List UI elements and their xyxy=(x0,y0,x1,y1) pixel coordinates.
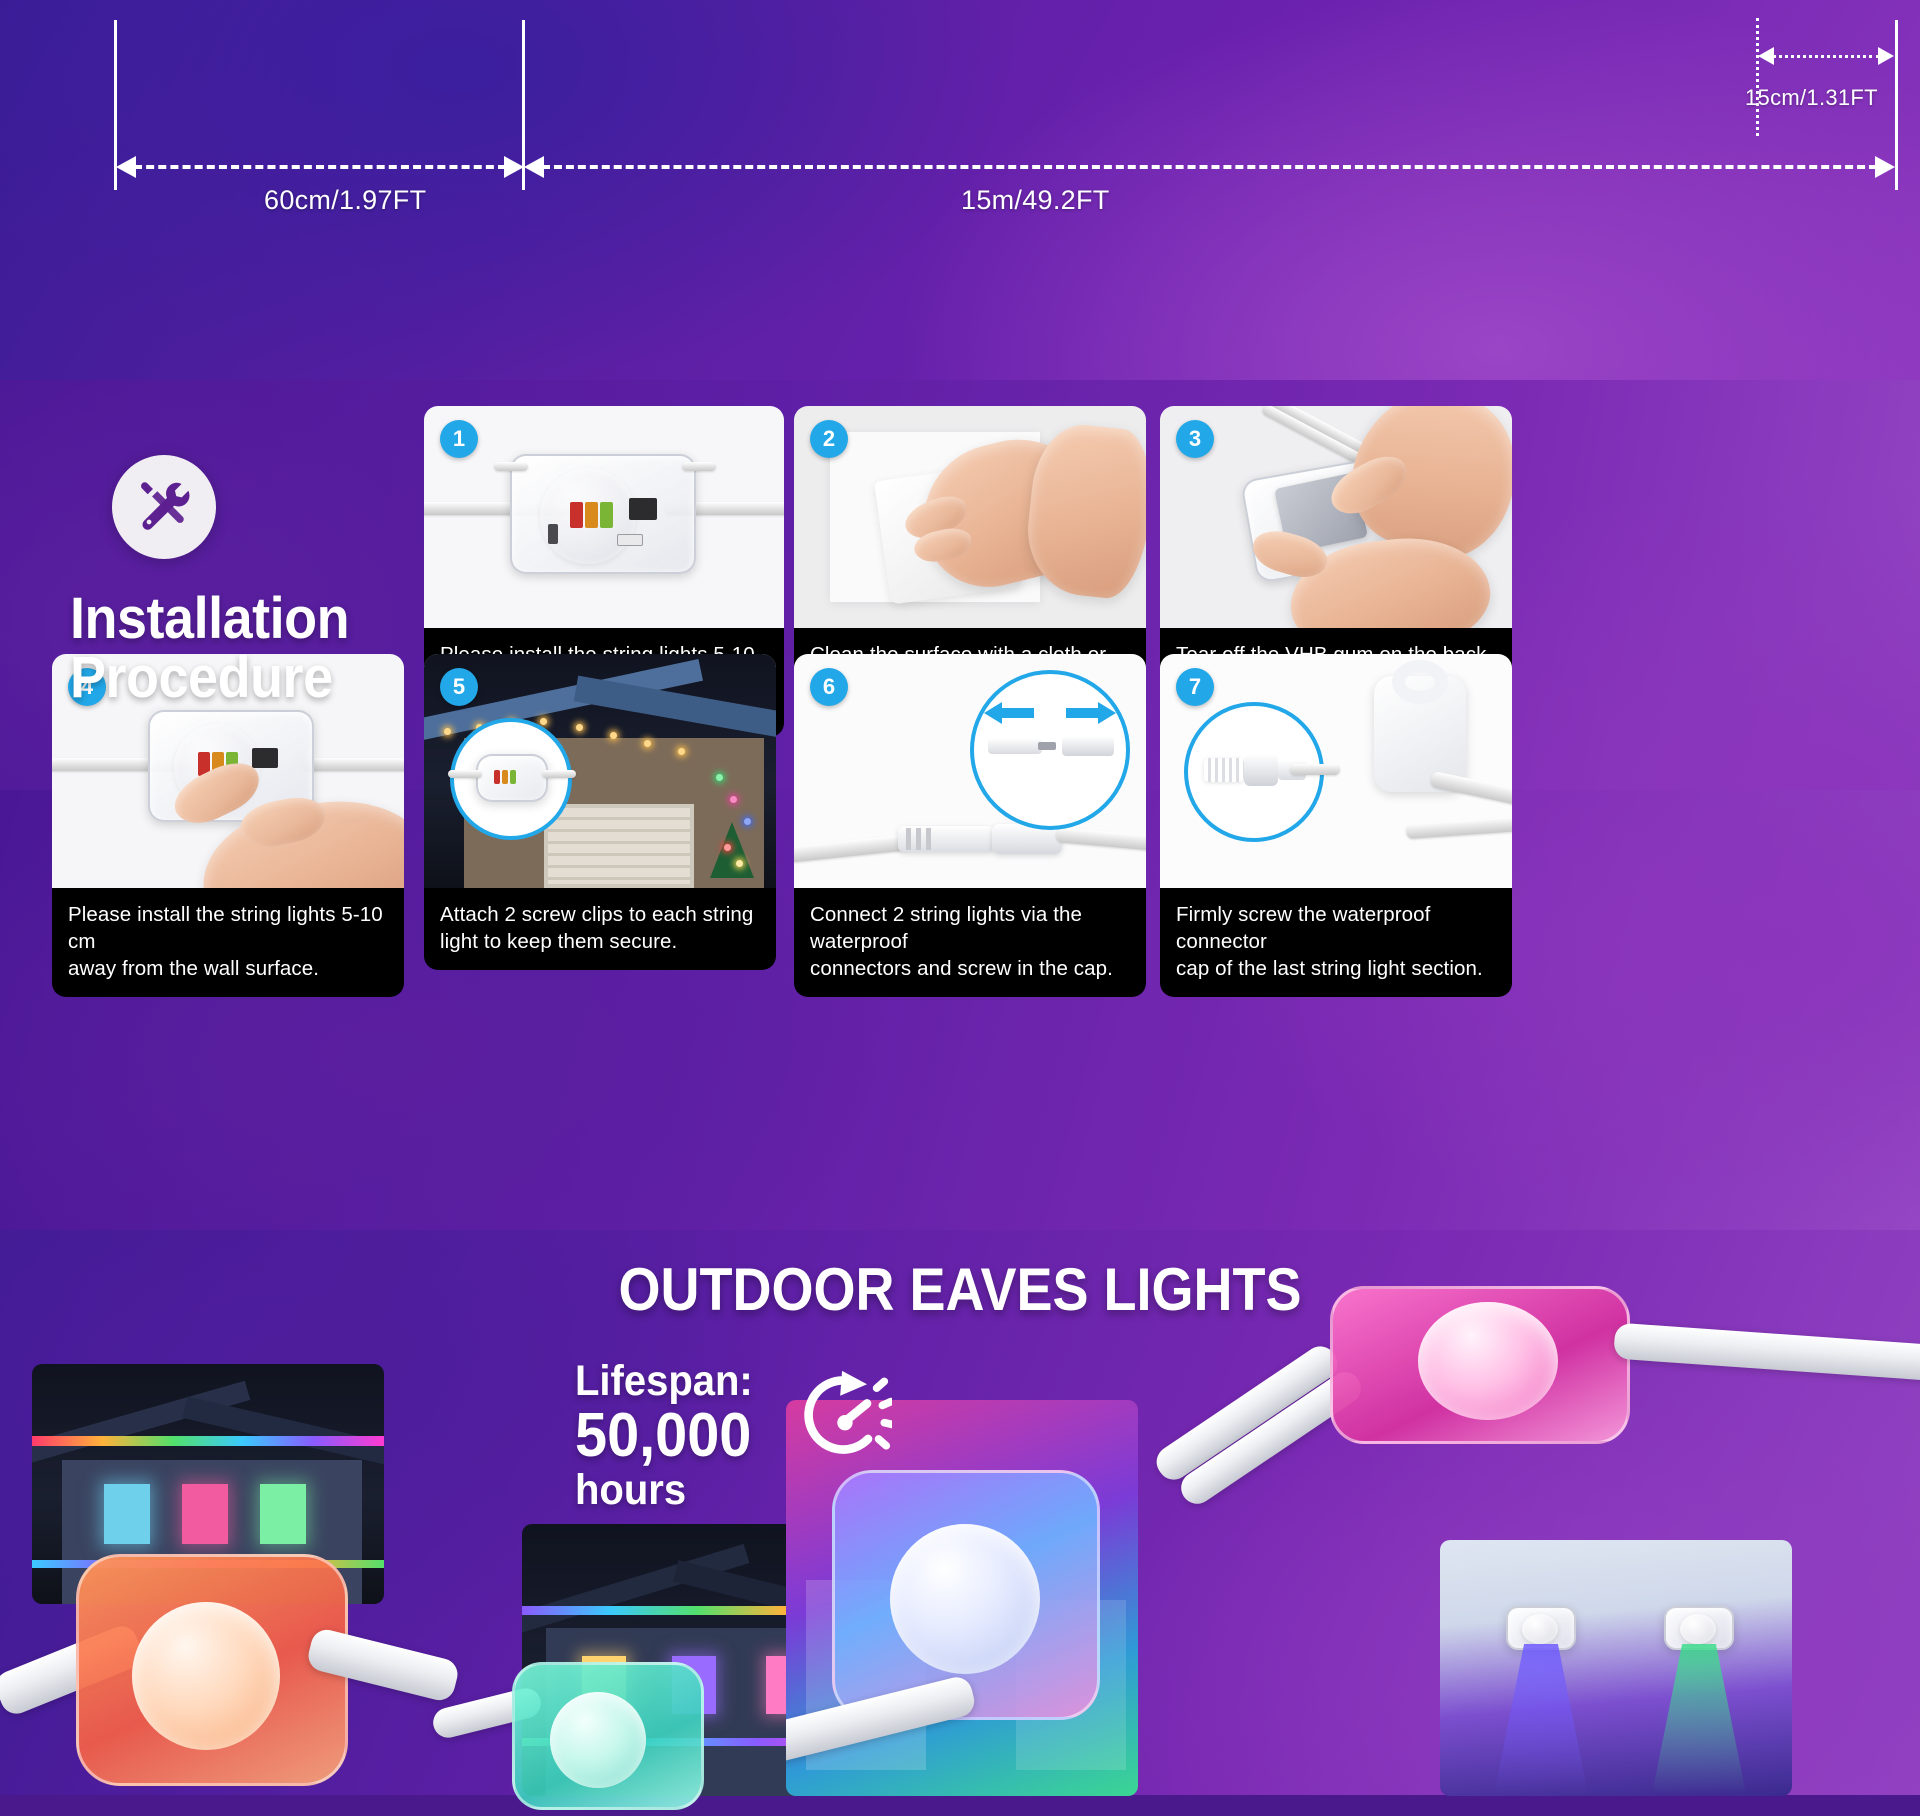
installation-title-line2: Procedure xyxy=(70,648,423,707)
step-caption-7: Firmly screw the waterproof connector ca… xyxy=(1160,888,1512,997)
dimension-tick-lead xyxy=(1756,18,1759,136)
arrow-left-total xyxy=(524,156,544,178)
dimension-diagram-section: 60cm/1.97FT 15m/49.2FT 15cm/1.31FT xyxy=(0,0,1920,380)
step-badge-7: 7 xyxy=(1176,668,1214,706)
step-photo-5: 5 xyxy=(424,654,776,888)
step-badge-2: 2 xyxy=(810,420,848,458)
lifespan-block: Lifespan: 50,000 hours xyxy=(575,1360,892,1512)
step-caption-4-line2: away from the wall surface. xyxy=(68,955,388,982)
step-card-6[interactable]: 6 Connect 2 string lights via the waterp… xyxy=(794,654,1146,997)
dimension-label-lead: 15cm/1.31FT xyxy=(1745,85,1878,111)
speedometer-icon xyxy=(796,1366,892,1469)
installation-heading-block: Installation Procedure xyxy=(70,455,450,707)
step-caption-7-line2: cap of the last string light section. xyxy=(1176,955,1496,982)
step-caption-6-line2: connectors and screw in the cap. xyxy=(810,955,1130,982)
led-module-teal xyxy=(466,1646,736,1816)
eaves-photo-two-modules xyxy=(1440,1540,1792,1796)
dimension-line-total xyxy=(542,165,1877,169)
step-caption-5-line1: Attach 2 screw clips to each string xyxy=(440,901,760,928)
lifespan-label: Lifespan: xyxy=(575,1360,753,1403)
eaves-title: OUTDOOR EAVES LIGHTS xyxy=(96,1255,1824,1324)
arrow-right-segment xyxy=(504,156,524,178)
step-photo-7: 7 xyxy=(1160,654,1512,888)
step-card-5[interactable]: 5 Attach 2 screw clips to each string li… xyxy=(424,654,776,970)
step-caption-4: Please install the string lights 5-10 cm… xyxy=(52,888,404,997)
dimension-label-segment: 60cm/1.97FT xyxy=(264,185,426,216)
arrow-left-segment xyxy=(116,156,136,178)
step-caption-7-line1: Firmly screw the waterproof connector xyxy=(1176,901,1496,955)
step-caption-4-line1: Please install the string lights 5-10 cm xyxy=(68,901,388,955)
dimension-tick-right xyxy=(1895,20,1898,190)
page-title: Installation Procedure xyxy=(70,589,423,707)
step-caption-5: Attach 2 screw clips to each string ligh… xyxy=(424,888,776,970)
dimension-line-lead xyxy=(1772,55,1880,58)
led-module-orange xyxy=(20,1520,400,1800)
step-photo-1: 1 xyxy=(424,406,784,628)
step-photo-3: 3 xyxy=(1160,406,1512,628)
step-badge-6: 6 xyxy=(810,668,848,706)
arrow-right-total xyxy=(1875,156,1895,178)
installation-title-line1: Installation xyxy=(70,586,349,651)
step-photo-6: 6 xyxy=(794,654,1146,888)
dimension-label-total: 15m/49.2FT xyxy=(961,185,1110,216)
step-card-7[interactable]: 7 Firmly screw the waterproof connector … xyxy=(1160,654,1512,997)
lifespan-value: 50,000 xyxy=(575,1405,753,1467)
step-caption-5-line2: light to keep them secure. xyxy=(440,928,760,955)
lifespan-unit: hours xyxy=(575,1469,753,1512)
step-photo-2: 2 xyxy=(794,406,1146,628)
step-badge-1: 1 xyxy=(440,420,478,458)
arrow-right-lead xyxy=(1878,47,1894,65)
step-caption-6-line1: Connect 2 string lights via the waterpro… xyxy=(810,901,1130,955)
step-caption-6: Connect 2 string lights via the waterpro… xyxy=(794,888,1146,997)
step-badge-3: 3 xyxy=(1176,420,1214,458)
tools-icon xyxy=(112,455,216,559)
dimension-line-segment xyxy=(134,165,506,169)
